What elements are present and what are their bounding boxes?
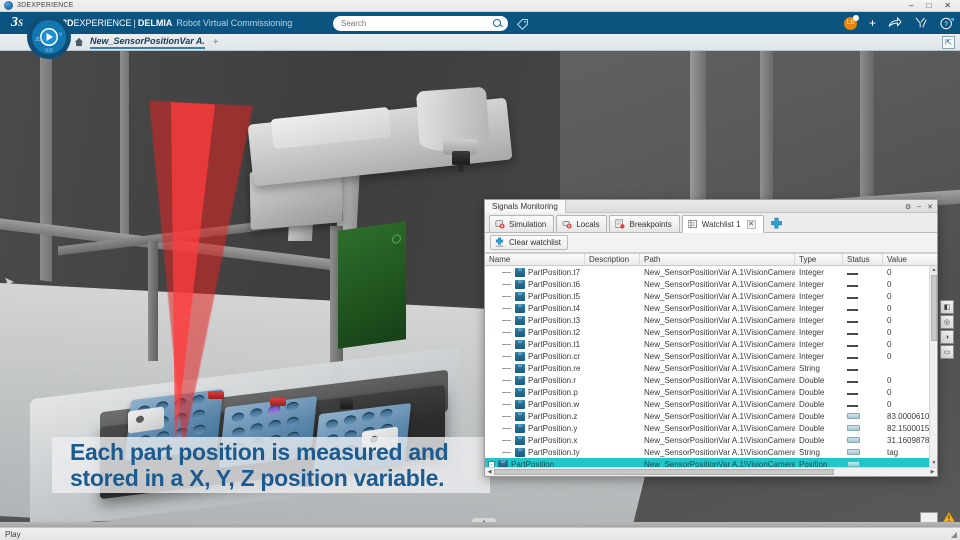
status-indicator [847, 357, 858, 359]
cell-type: Integer [795, 268, 843, 277]
cell-path: New_SensorPositionVar A.1\VisionCamera.1… [640, 364, 795, 373]
scroll-up-icon[interactable]: ▲ [930, 266, 937, 274]
signal-icon [515, 352, 525, 361]
cell-path: New_SensorPositionVar A.1\VisionCamera.1… [640, 280, 795, 289]
brand-product: DELMIA [138, 18, 173, 28]
dassault-logo-icon [4, 1, 13, 10]
cell-name-label: PartPosition.t7 [528, 268, 580, 277]
tab-breakpoints-label: Breakpoints [629, 220, 671, 229]
tab-simulation[interactable]: Simulation [489, 215, 554, 232]
status-indicator [847, 425, 860, 431]
signal-icon [515, 400, 525, 409]
cell-name-label: PartPosition.x [528, 436, 577, 445]
cell-type: Double [795, 412, 843, 421]
cell-name-label: PartPosition.t3 [528, 316, 580, 325]
cell-name-label: PartPosition.ty [528, 448, 580, 457]
brand-separator: | [134, 18, 136, 28]
window-controls: – □ ✕ [909, 2, 960, 10]
tree-line [502, 356, 511, 357]
tab-document[interactable]: New_SensorPositionVar A. [90, 36, 205, 49]
status-indicator [847, 345, 858, 347]
cell-type: Double [795, 388, 843, 397]
tree-line [502, 404, 511, 405]
cell-path: New_SensorPositionVar A.1\VisionCamera.1… [640, 436, 795, 445]
column-header-description[interactable]: Description [585, 254, 640, 265]
cell-path: New_SensorPositionVar A.1\VisionCamera.1… [640, 388, 795, 397]
document-tabstrip: New_SensorPositionVar A. + ⇱ [0, 34, 960, 51]
cell-name: PartPosition.ty [485, 448, 585, 457]
close-watchlist-icon[interactable]: ✕ [747, 220, 756, 229]
table-row[interactable]: PartPosition.yNew_SensorPositionVar A.1\… [485, 422, 937, 434]
play-nav-icon[interactable]: 3D V V.R [26, 14, 72, 60]
clear-watchlist-icon [494, 237, 505, 248]
view-tool-4[interactable]: ▭ [940, 345, 954, 359]
resize-grip-icon[interactable]: ◢ [951, 530, 957, 539]
cell-name-label: PartPosition.y [528, 424, 577, 433]
cell-path: New_SensorPositionVar A.1\VisionCamera.1… [640, 292, 795, 301]
signal-icon [515, 304, 525, 313]
cell-path: New_SensorPositionVar A.1\VisionCamera.1… [640, 316, 795, 325]
svg-text:?: ? [944, 21, 948, 28]
cell-name: PartPosition.r [485, 376, 585, 385]
cell-path: New_SensorPositionVar A.1\VisionCamera.1… [640, 448, 795, 457]
signal-icon [515, 268, 525, 277]
signal-icon [515, 376, 525, 385]
cell-name: PartPosition.y [485, 424, 585, 433]
signal-icon [515, 328, 525, 337]
minimize-icon[interactable]: – [917, 203, 921, 210]
cell-name-label: PartPosition.t5 [528, 292, 580, 301]
cell-name: PartPosition.re [485, 364, 585, 373]
cell-path: New_SensorPositionVar A.1\VisionCamera.1… [640, 304, 795, 313]
minimize-button[interactable]: – [909, 2, 913, 10]
cell-path: New_SensorPositionVar A.1\VisionCamera.1… [640, 340, 795, 349]
table-row[interactable]: PartPosition.tyNew_SensorPositionVar A.1… [485, 446, 937, 458]
cell-name: PartPosition.cr [485, 352, 585, 361]
table-row[interactable]: PartPosition.t6New_SensorPositionVar A.1… [485, 278, 937, 290]
cell-path: New_SensorPositionVar A.1\VisionCamera.1… [640, 328, 795, 337]
tree-line [502, 428, 511, 429]
clear-watchlist-button[interactable]: Clear watchlist [490, 235, 568, 250]
search-icon[interactable] [491, 17, 505, 31]
tree-line [502, 272, 511, 273]
scroll-thumb-h[interactable] [494, 469, 834, 475]
tree-line [502, 320, 511, 321]
cell-name-label: PartPosition.re [528, 364, 580, 373]
view-tool-3[interactable]: ◑ [940, 330, 954, 344]
cell-status [843, 424, 883, 433]
cell-type: Double [795, 424, 843, 433]
status-indicator [847, 285, 858, 287]
cell-type: String [795, 448, 843, 457]
status-indicator [847, 437, 860, 443]
plus-icon[interactable]: + [869, 17, 876, 29]
status-indicator [847, 369, 858, 371]
cell-name: PartPosition.t1 [485, 340, 585, 349]
cell-status [843, 460, 883, 468]
status-bar: Play ◢ [0, 527, 960, 540]
caption-line-2: stored in a X, Y, Z position variable. [70, 465, 490, 491]
table-row[interactable]: PartPosition.t7New_SensorPositionVar A.1… [485, 266, 937, 278]
column-header-path[interactable]: Path [640, 254, 795, 265]
simulation-icon [495, 219, 505, 229]
panel-title: Signals Monitoring [485, 200, 566, 213]
cell-type: Double [795, 436, 843, 445]
panel-titlebar: Signals Monitoring ⚙ – ✕ [485, 200, 937, 213]
cell-name-label: PartPosition.t2 [528, 328, 580, 337]
cell-status [843, 328, 883, 337]
grid-vertical-scrollbar[interactable]: ▲ ▼ [929, 266, 937, 467]
cell-name-label: PartPosition.r [528, 376, 576, 385]
cell-name-label: PartPosition.w [528, 400, 579, 409]
cell-status [843, 364, 883, 373]
signal-icon [515, 280, 525, 289]
cell-name: PartPosition.t5 [485, 292, 585, 301]
status-indicator [847, 381, 858, 383]
cell-name: PartPosition.p [485, 388, 585, 397]
panel-window-controls: ⚙ – ✕ [905, 200, 933, 213]
grid-header: Name Description Path Type Status Value … [485, 254, 937, 266]
grid-body[interactable]: PartPosition.t7New_SensorPositionVar A.1… [485, 266, 937, 467]
app-top-bar: 3S 3D V V.R 3DEXPERIENCE|DELMIARobot Vir… [0, 12, 960, 34]
status-indicator [847, 321, 858, 323]
tree-line [502, 344, 511, 345]
cell-name-label: PartPosition.cr [528, 352, 580, 361]
tray-red-cap [270, 398, 286, 406]
cell-type: Double [795, 376, 843, 385]
status-indicator [847, 449, 860, 455]
cell-path: New_SensorPositionVar A.1\VisionCamera.1… [640, 400, 795, 409]
breakpoints-icon [615, 219, 625, 229]
cell-name: PartPosition.t2 [485, 328, 585, 337]
chevron-right-icon[interactable]: ➤ [2, 273, 16, 291]
signal-icon [515, 424, 525, 433]
scroll-thumb[interactable] [931, 275, 937, 341]
robot-end-effector [452, 151, 470, 165]
expand-view-icon[interactable]: ⇱ [942, 36, 955, 49]
cell-path: New_SensorPositionVar A.1\VisionCamera.1… [640, 424, 795, 433]
cell-name-label: PartPosition [511, 460, 554, 468]
cell-name-label: PartPosition.z [528, 412, 577, 421]
cell-name-label: PartPosition.p [528, 388, 578, 397]
cell-path: New_SensorPositionVar A.1\VisionCamera.1… [640, 376, 795, 385]
tree-line [502, 416, 511, 417]
add-tab-button[interactable]: + [213, 37, 219, 48]
cell-type: Integer [795, 328, 843, 337]
cell-name: -PartPosition [485, 460, 585, 468]
cell-path: New_SensorPositionVar A.1\VisionCamera.1… [640, 460, 795, 468]
view-tool-2[interactable]: ◎ [940, 315, 954, 329]
cell-type: Integer [795, 340, 843, 349]
cell-name: PartPosition.t6 [485, 280, 585, 289]
tree-line [502, 392, 511, 393]
brand-app: Robot Virtual Commissioning [176, 18, 292, 28]
cell-name: PartPosition.t7 [485, 268, 585, 277]
cell-name: PartPosition.w [485, 400, 585, 409]
avatar[interactable]: LS [844, 17, 857, 30]
maximize-button[interactable]: □ [926, 2, 931, 10]
tab-breakpoints[interactable]: Breakpoints [609, 215, 679, 232]
viewport-toolbar: ◧ ◎ ◑ ▭ [940, 300, 954, 359]
cell-path: New_SensorPositionVar A.1\VisionCamera.1… [640, 352, 795, 361]
scroll-left-icon[interactable]: ◀ [485, 468, 494, 476]
svg-text:3D: 3D [35, 37, 42, 43]
close-icon[interactable]: ✕ [927, 203, 933, 211]
cell-status [843, 388, 883, 397]
cell-name: PartPosition.t3 [485, 316, 585, 325]
watchlist-icon [688, 219, 698, 229]
cell-name-label: PartPosition.t1 [528, 340, 580, 349]
table-row[interactable]: PartPosition.t3New_SensorPositionVar A.1… [485, 314, 937, 326]
search-input[interactable] [333, 19, 491, 28]
cell-status [843, 448, 883, 457]
svg-text:V.R: V.R [45, 48, 53, 54]
status-indicator [847, 309, 858, 311]
home-icon[interactable] [74, 37, 84, 47]
caption-overlay: Each part position is measured and store… [52, 437, 490, 493]
table-row[interactable]: PartPosition.reNew_SensorPositionVar A.1… [485, 362, 937, 374]
table-row[interactable]: PartPosition.rNew_SensorPositionVar A.1\… [485, 374, 937, 386]
cell-path: New_SensorPositionVar A.1\VisionCamera.1… [640, 412, 795, 421]
caption-line-1: Each part position is measured and [70, 439, 490, 465]
top-bar-actions: LS + ? [844, 12, 954, 34]
collaborate-icon[interactable] [914, 17, 928, 29]
watchlist-grid[interactable]: Name Description Path Type Status Value … [485, 253, 937, 476]
cell-type: Integer [795, 280, 843, 289]
help-icon[interactable]: ? [940, 17, 954, 30]
brand-title: 3DEXPERIENCE|DELMIARobot Virtual Commiss… [62, 18, 292, 28]
locals-icon [562, 219, 572, 229]
table-row[interactable]: PartPosition.zNew_SensorPositionVar A.1\… [485, 410, 937, 422]
signals-monitoring-panel[interactable]: Signals Monitoring ⚙ – ✕ Simulation Loca… [484, 199, 938, 477]
cell-type: Integer [795, 304, 843, 313]
cell-status [843, 280, 883, 289]
tab-locals-label: Locals [576, 220, 599, 229]
gear-icon[interactable]: ⚙ [905, 203, 911, 211]
tray-red-cap [208, 391, 224, 399]
scene-pillar [120, 51, 129, 242]
table-row[interactable]: PartPosition.xNew_SensorPositionVar A.1\… [485, 434, 937, 446]
status-indicator [847, 405, 858, 407]
tag-icon[interactable] [516, 17, 529, 30]
robot-tool-tip [458, 164, 464, 172]
clear-watchlist-label: Clear watchlist [509, 238, 561, 247]
status-indicator [847, 333, 858, 335]
search-box[interactable] [333, 16, 508, 31]
tree-line [502, 368, 511, 369]
table-row[interactable]: PartPosition.pNew_SensorPositionVar A.1\… [485, 386, 937, 398]
cell-status [843, 412, 883, 421]
tabstrip-actions: ⇱ [942, 36, 955, 49]
os-titlebar: 3DEXPERIENCE – □ ✕ [0, 0, 960, 12]
scene-frame-leg [148, 241, 158, 361]
signal-icon [515, 316, 525, 325]
column-header-value[interactable]: Value [883, 254, 937, 265]
cell-status [843, 268, 883, 277]
signal-icon [515, 412, 525, 421]
table-row[interactable]: PartPosition.t5New_SensorPositionVar A.1… [485, 290, 937, 302]
cell-type: Position [795, 460, 843, 468]
panel-toolbar: Clear watchlist [485, 233, 937, 253]
cell-status [843, 376, 883, 385]
cell-type: Integer [795, 316, 843, 325]
table-row[interactable]: PartPosition.t1New_SensorPositionVar A.1… [485, 338, 937, 350]
cell-status [843, 400, 883, 409]
close-button[interactable]: ✕ [944, 2, 951, 10]
cell-name: PartPosition.x [485, 436, 585, 445]
share-arrow-icon[interactable] [888, 17, 902, 29]
column-header-status[interactable]: Status [843, 254, 883, 265]
tree-line [502, 440, 511, 441]
table-row[interactable]: PartPosition.t2New_SensorPositionVar A.1… [485, 326, 937, 338]
tray-clamp [340, 398, 353, 409]
status-indicator [847, 297, 858, 299]
signal-icon [515, 388, 525, 397]
signal-icon [515, 364, 525, 373]
cell-status [843, 304, 883, 313]
cell-type: Integer [795, 352, 843, 361]
tree-line [502, 284, 511, 285]
cell-name: PartPosition.z [485, 412, 585, 421]
cell-type: Double [795, 400, 843, 409]
scene-pillar [40, 51, 52, 282]
view-tool-1[interactable]: ◧ [940, 300, 954, 314]
tree-line [502, 380, 511, 381]
signal-icon [515, 292, 525, 301]
cell-status [843, 340, 883, 349]
scroll-right-icon[interactable]: ▶ [928, 468, 937, 476]
panel-tabs: Simulation Locals Breakpoints [485, 213, 937, 233]
status-text: Play [0, 530, 21, 539]
table-row[interactable]: PartPosition.crNew_SensorPositionVar A.1… [485, 350, 937, 362]
add-watchlist-icon[interactable] [769, 216, 785, 231]
cell-name-label: PartPosition.t4 [528, 304, 580, 313]
signal-icon [515, 436, 525, 445]
signal-icon [498, 460, 508, 468]
tree-line [502, 452, 511, 453]
status-indicator [847, 413, 860, 419]
cell-status [843, 316, 883, 325]
tab-simulation-label: Simulation [509, 220, 546, 229]
table-row[interactable]: -PartPositionNew_SensorPositionVar A.1\V… [485, 458, 937, 467]
tab-locals[interactable]: Locals [556, 215, 607, 232]
tree-line [502, 296, 511, 297]
grid-horizontal-scrollbar[interactable]: ◀ ▶ [485, 467, 937, 476]
cell-name-label: PartPosition.t6 [528, 280, 580, 289]
cell-path: New_SensorPositionVar A.1\VisionCamera.1… [640, 268, 795, 277]
cell-type: Integer [795, 292, 843, 301]
scene-pcb-panel [338, 221, 406, 349]
cell-name: PartPosition.t4 [485, 304, 585, 313]
cell-status [843, 436, 883, 445]
signal-icon [515, 448, 525, 457]
cell-status [843, 352, 883, 361]
scroll-down-icon[interactable]: ▼ [930, 459, 937, 467]
table-row[interactable]: PartPosition.t4New_SensorPositionVar A.1… [485, 302, 937, 314]
tab-watchlist-1[interactable]: Watchlist 1 ✕ [682, 215, 764, 233]
os-window-title: 3DEXPERIENCE [17, 2, 73, 9]
status-indicator [847, 273, 858, 275]
column-header-type[interactable]: Type [795, 254, 843, 265]
status-indicator [847, 393, 858, 395]
brand-experience: EXPERIENCE [74, 18, 132, 28]
status-indicator [847, 461, 860, 467]
tree-line [502, 308, 511, 309]
signal-icon [515, 340, 525, 349]
column-header-name[interactable]: Name [485, 254, 585, 265]
tree-line [502, 332, 511, 333]
table-row[interactable]: PartPosition.wNew_SensorPositionVar A.1\… [485, 398, 937, 410]
cell-status [843, 292, 883, 301]
tab-watchlist-1-label: Watchlist 1 [702, 220, 741, 229]
cell-type: String [795, 364, 843, 373]
